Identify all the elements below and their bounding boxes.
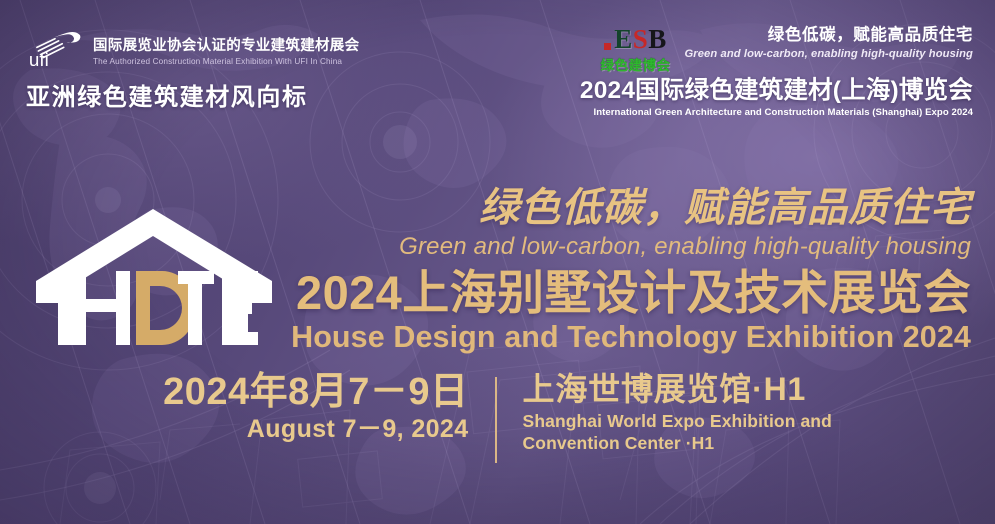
footer-info: 2024年8月7－9日 August 7－9, 2024 上海世博展览馆·H1 … xyxy=(0,372,995,463)
ufi-text-group: 国际展览业协会认证的专业建筑建材展会 The Authorized Constr… xyxy=(93,38,359,67)
esb-title-en: International Green Architecture and Con… xyxy=(580,107,973,118)
ufi-cn-line: 国际展览业协会认证的专业建筑建材展会 xyxy=(93,38,359,54)
venue-en-line2: Convention Center ·H1 xyxy=(523,433,832,455)
esb-slogan-en: Green and low-carbon, enabling high-qual… xyxy=(684,48,973,60)
expo-poster: ufi 国际展览业协会认证的专业建筑建材展会 The Authorized Co… xyxy=(0,0,995,524)
esb-title-cn: 2024国际绿色建筑建材(上海)博览会 xyxy=(580,77,973,104)
esb-letters: E S B xyxy=(600,27,670,53)
ufi-swoosh-icon: ufi xyxy=(26,30,84,68)
ufi-badge-row: ufi 国际展览业协会认证的专业建筑建材展会 The Authorized Co… xyxy=(26,30,326,68)
esb-letter-s: S xyxy=(633,27,649,53)
esb-red-dot-icon xyxy=(604,43,611,50)
main-headline: 绿色低碳，赋能高品质住宅 Green and low-carbon, enabl… xyxy=(251,186,971,354)
esb-letter-e: E xyxy=(614,27,633,53)
venue-column: 上海世博展览馆·H1 Shanghai World Expo Exhibitio… xyxy=(523,372,832,454)
footer-divider xyxy=(495,377,497,463)
ufi-badge: ufi 国际展览业协会认证的专业建筑建材展会 The Authorized Co… xyxy=(26,30,326,112)
headline-title-en: House Design and Technology Exhibition 2… xyxy=(251,320,971,354)
esb-slogan-group: 绿色低碳，赋能高品质住宅 Green and low-carbon, enabl… xyxy=(684,26,973,60)
hdte-house-logo xyxy=(36,205,276,345)
esb-slogan-cn: 绿色低碳，赋能高品质住宅 xyxy=(684,26,973,46)
svg-text:ufi: ufi xyxy=(29,49,49,67)
esb-badge: E S B 绿色建博会 绿色低碳，赋能高品质住宅 Green and low-c… xyxy=(580,26,973,118)
headline-title-cn: 2024上海别墅设计及技术展览会 xyxy=(251,267,971,319)
esb-letter-b: B xyxy=(648,27,667,53)
date-cn: 2024年8月7－9日 xyxy=(163,372,468,413)
headline-slogan-en: Green and low-carbon, enabling high-qual… xyxy=(251,233,971,261)
esb-top-row: E S B 绿色建博会 绿色低碳，赋能高品质住宅 Green and low-c… xyxy=(580,26,973,74)
asia-tagline: 亚洲绿色建筑建材风向标 xyxy=(26,77,326,112)
ufi-en-line: The Authorized Construction Material Exh… xyxy=(93,57,359,66)
venue-en: Shanghai World Expo Exhibition and Conve… xyxy=(523,411,832,454)
date-en: August 7－9, 2024 xyxy=(163,415,468,443)
venue-en-line1: Shanghai World Expo Exhibition and xyxy=(523,411,832,433)
headline-slogan-cn: 绿色低碳，赋能高品质住宅 xyxy=(251,186,971,231)
date-column: 2024年8月7－9日 August 7－9, 2024 xyxy=(163,372,468,443)
venue-cn: 上海世博展览馆·H1 xyxy=(523,372,832,408)
esb-logo-cn: 绿色建博会 xyxy=(600,54,670,74)
esb-logo: E S B 绿色建博会 xyxy=(600,26,670,74)
